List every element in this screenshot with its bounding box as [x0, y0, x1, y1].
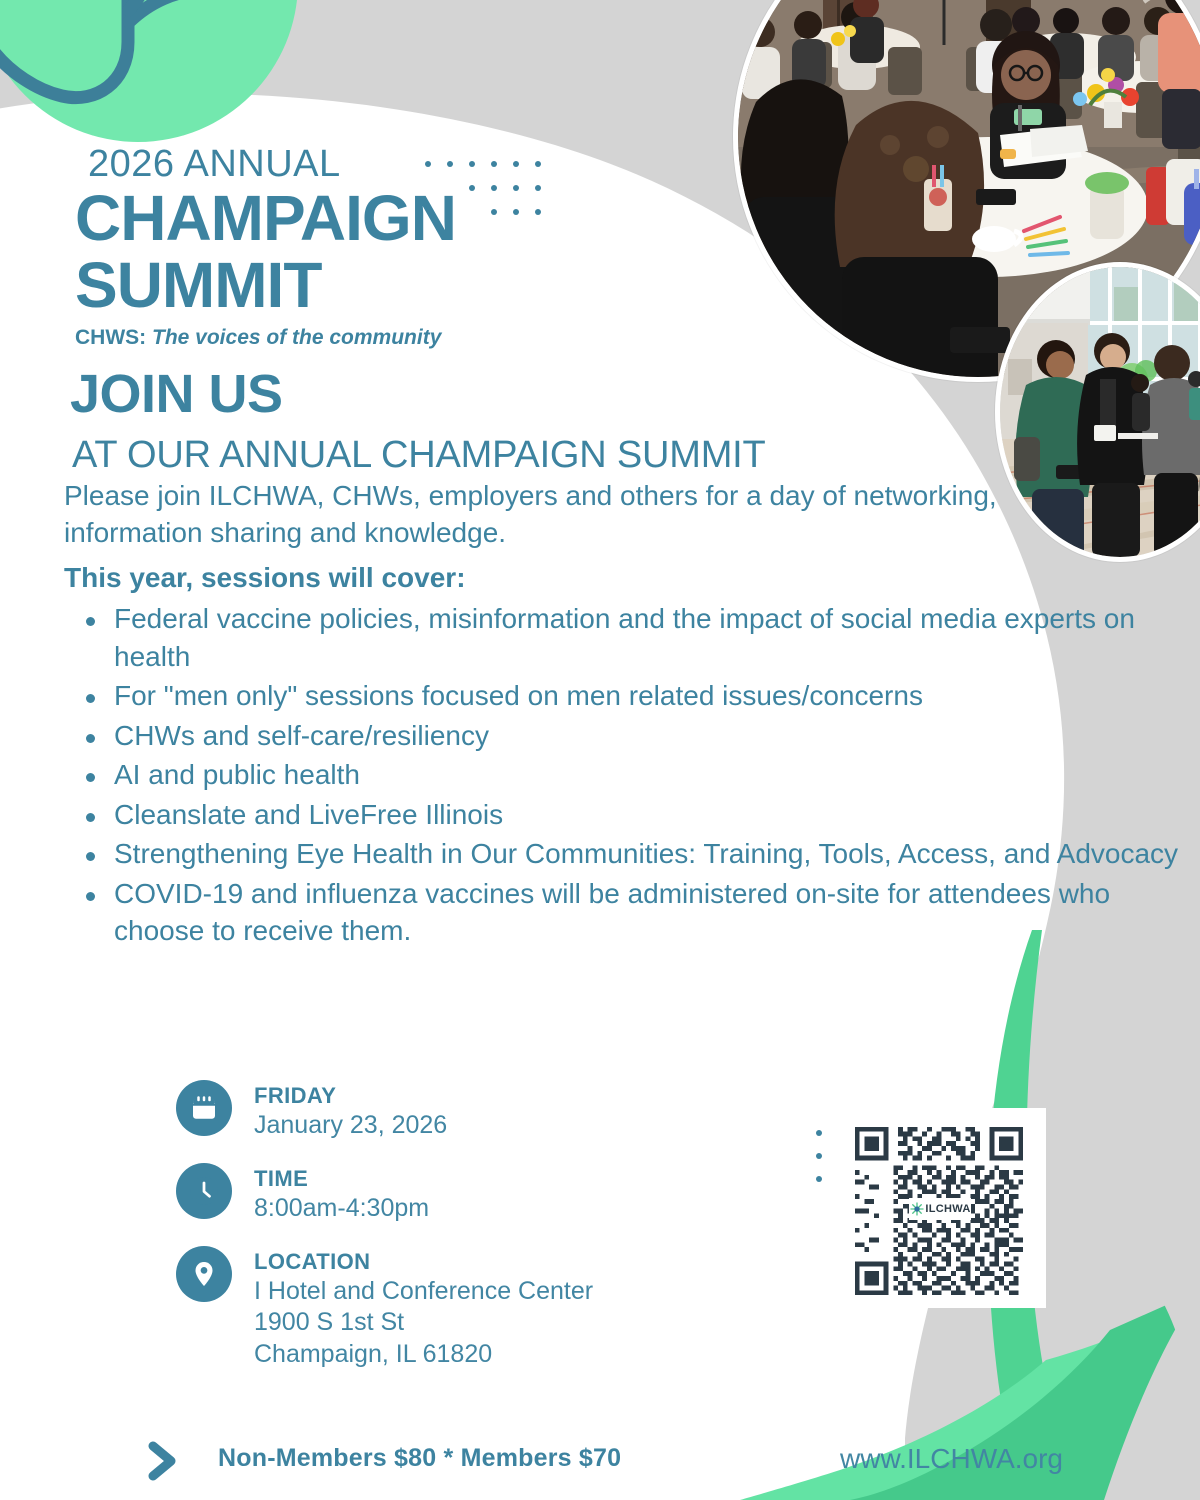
page-title-line2: SUMMIT: [75, 253, 321, 317]
subheading: AT OUR ANNUAL CHAMPAIGN SUMMIT: [72, 434, 766, 477]
detail-value-time: 8:00am-4:30pm: [254, 1193, 429, 1225]
chevron-right-icon: [146, 1440, 180, 1482]
qr-panel: ILCHWA: [806, 1108, 1046, 1308]
calendar-icon: [176, 1080, 232, 1136]
flyer-canvas: 2026 ANNUAL CHAMPAIGN SUMMIT CHWS: The v…: [0, 0, 1200, 1500]
detail-row-date: FRIDAY January 23, 2026: [176, 1080, 593, 1141]
detail-text-time: TIME 8:00am-4:30pm: [254, 1163, 429, 1224]
event-details: FRIDAY January 23, 2026 TIME 8:00am-4:30…: [176, 1080, 593, 1392]
qr-center-logo: ILCHWA: [909, 1198, 971, 1220]
location-pin-icon: [176, 1246, 232, 1302]
detail-label-time: TIME: [254, 1165, 429, 1193]
qr-logo-label: ILCHWA: [925, 1203, 970, 1215]
detail-row-location: LOCATION I Hotel and Conference Center 1…: [176, 1246, 593, 1370]
dot: [816, 1153, 822, 1159]
tagline: CHWS: The voices of the community: [75, 326, 441, 350]
detail-value-street: 1900 S 1st St: [254, 1307, 593, 1339]
list-item: Strengthening Eye Health in Our Communit…: [114, 835, 1179, 873]
detail-text-date: FRIDAY January 23, 2026: [254, 1080, 447, 1141]
detail-row-time: TIME 8:00am-4:30pm: [176, 1163, 593, 1224]
dot: [816, 1130, 822, 1136]
pricing-text: Non-Members $80 * Members $70: [218, 1444, 621, 1473]
detail-label-location: LOCATION: [254, 1248, 593, 1276]
tagline-italic: The voices of the community: [152, 326, 441, 349]
detail-value-city: Champaign, IL 61820: [254, 1339, 593, 1371]
ilchwa-mark-icon: [909, 1201, 925, 1217]
detail-text-location: LOCATION I Hotel and Conference Center 1…: [254, 1246, 593, 1370]
sessions-label: This year, sessions will cover:: [64, 562, 466, 594]
dot: [816, 1176, 822, 1182]
qr-decor-dots: [816, 1130, 822, 1199]
list-item: COVID-19 and influenza vaccines will be …: [114, 875, 1179, 950]
list-item: AI and public health: [114, 756, 1179, 794]
detail-value-date: January 23, 2026: [254, 1110, 447, 1142]
detail-value-venue: I Hotel and Conference Center: [254, 1276, 593, 1308]
eyebrow-year: 2026 ANNUAL: [88, 143, 341, 186]
list-item: CHWs and self-care/resiliency: [114, 717, 1179, 755]
clock-icon: [176, 1163, 232, 1219]
list-item: Cleanslate and LiveFree Illinois: [114, 796, 1179, 834]
sessions-list: Federal vaccine policies, misinformation…: [64, 600, 1179, 952]
intro-paragraph: Please join ILCHWA, CHWs, employers and …: [64, 478, 1024, 552]
detail-label-day: FRIDAY: [254, 1082, 447, 1110]
list-item: Federal vaccine policies, misinformation…: [114, 600, 1179, 675]
join-us-heading: JOIN US: [70, 367, 283, 421]
list-item: For "men only" sessions focused on men r…: [114, 677, 1179, 715]
tagline-prefix: CHWS:: [75, 326, 146, 349]
page-title-line1: CHAMPAIGN: [75, 186, 456, 250]
website-url[interactable]: www.ILCHWA.org: [840, 1443, 1063, 1475]
